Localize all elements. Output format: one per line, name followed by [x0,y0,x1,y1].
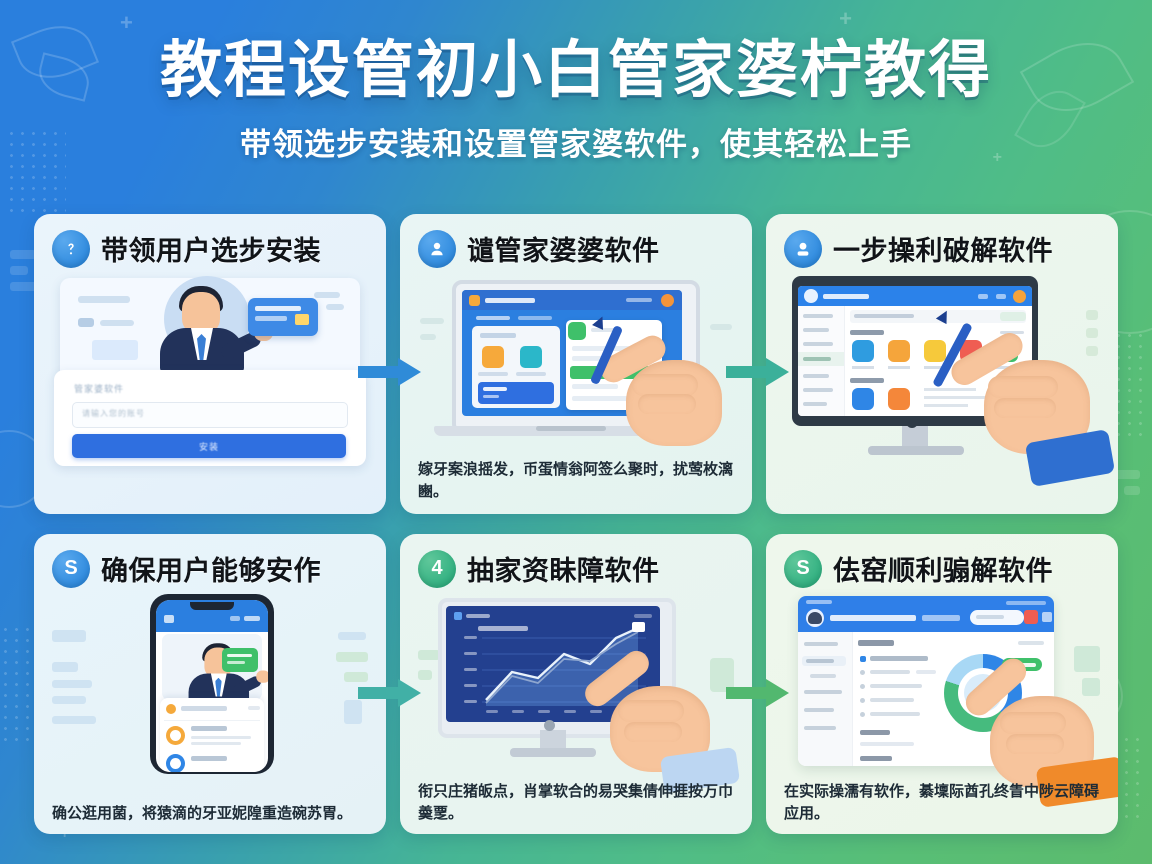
card-caption: 衔只庄猪皈点，肖掌软合的易哭集倩伸捱按万巾羮覂。 [418,781,738,824]
card-title: 带领用户选步安装 [101,229,321,268]
letter-s-badge-icon: S [784,550,822,588]
card-title: 确保用户能够安作 [101,549,321,588]
card-header: S 确保用户能够安作 [34,534,386,592]
step-card-5[interactable]: 4 抽家资眛障软件 [400,534,752,834]
card-title: 一步操利破解软件 [833,229,1053,268]
card-caption: 在实际操濡有软作，綦壈际酋孔终眚中陟云障碍应用。 [784,781,1104,824]
illustration-smartphone-person-list [52,596,368,772]
hand-with-stylus-icon [932,328,1108,476]
letter-s-badge-icon: S [52,550,90,588]
card-caption: 确公逛用菌，将猿滴的牙亚妮隍重造碗苏胃。 [52,803,372,824]
badge-letter: S [64,557,77,580]
step-card-2[interactable]: 谴管家婆婆软件 [400,214,752,514]
hand-with-stylus-icon [588,330,738,450]
bar-decoration [10,250,36,259]
step-card-3[interactable]: 一步操利破解软件 [766,214,1118,514]
pointing-hand-icon [954,670,1114,790]
arrow-card2-to-card3 [726,357,790,387]
illustration-monitor-line-chart [418,596,734,764]
pointing-hand-icon [574,656,734,776]
card-header: 带领用户选步安装 [34,214,386,272]
card-title: 谴管家婆婆软件 [467,229,660,268]
illustration-browser-donut-chart [784,596,1100,776]
card-header: 4 抽家资眛障软件 [400,534,752,592]
page-title: 教程设管初小白管家婆柠教得 [0,38,1152,103]
question-mark-badge-icon [52,230,90,268]
badge-letter: S [796,557,809,580]
step-card-6[interactable]: S 佉窑顺利骟解软件 [766,534,1118,834]
form-label: 管家婆软件 [74,382,124,395]
badge-letter: 4 [431,557,442,580]
number-4-badge-icon: 4 [418,550,456,588]
form-input-placeholder: 请输入您的账号 [82,408,145,419]
step-card-4[interactable]: S 确保用户能够安作 [34,534,386,834]
illustration-desktop-app-grid [784,276,1100,476]
page-subtitle: 带领选步安装和设置管家婆软件，使其轻松上手 [0,119,1152,164]
install-button-label: 安装 [52,440,366,453]
card-title: 佉窑顺利骟解软件 [833,549,1053,588]
card-header: S 佉窑顺利骟解软件 [766,534,1118,592]
card-title: 抽家资眛障软件 [467,549,660,588]
card-header: 谴管家婆婆软件 [400,214,752,272]
bar-decoration [10,266,28,275]
card-header: 一步操利破解软件 [766,214,1118,272]
arrow-card4-to-card5 [358,678,422,708]
card-caption: 嫁牙案浪摇发，币蛋情翁阿签么聚时，扰莺枚漓豳。 [418,459,738,502]
steps-grid: 带领用户选步安装 管家婆软件 [34,214,1118,834]
step-card-1[interactable]: 带领用户选步安装 管家婆软件 [34,214,386,514]
illustration-person-with-login-form: 管家婆软件 请输入您的账号 安装 [52,274,368,470]
bar-decoration [1124,486,1140,495]
arrow-card1-to-card2 [358,357,422,387]
header: 教程设管初小白管家婆柠教得 带领选步安装和设置管家婆软件，使其轻松上手 [0,0,1152,164]
arrow-card5-to-card6 [726,678,790,708]
avatar-badge-icon [784,230,822,268]
user-badge-icon [418,230,456,268]
illustration-laptop-dashboard [418,276,734,444]
